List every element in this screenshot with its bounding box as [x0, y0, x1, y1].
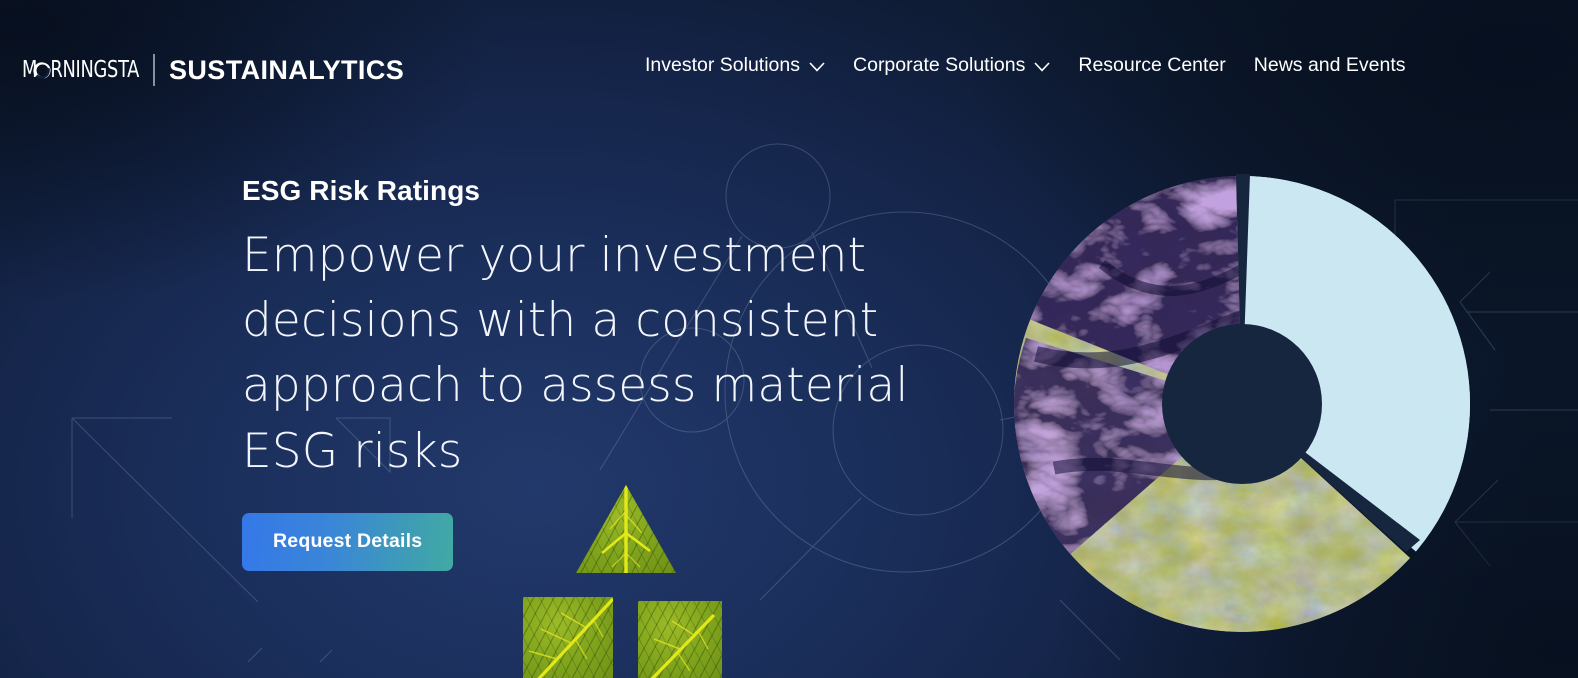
leaf-shapes-graphic: [520, 485, 750, 678]
esg-donut-graphic: [1006, 168, 1478, 640]
main-navigation: Investor Solutions Corporate Solutions R…: [645, 56, 1406, 76]
request-details-button[interactable]: Request Details: [242, 513, 453, 571]
nav-label: Corporate Solutions: [853, 56, 1025, 76]
chevron-down-icon: [1034, 62, 1050, 72]
hero-section: M RNINGSTAR SUSTAINALYTICS Investor Solu…: [0, 0, 1578, 678]
sustainalytics-wordmark: SUSTAINALYTICS: [169, 57, 404, 84]
hero-headline: Empower your investment decisions with a…: [242, 223, 942, 484]
leaf-circle-icon: [638, 601, 722, 678]
svg-text:RNINGSTAR: RNINGSTAR: [50, 57, 140, 83]
donut-center-hole: [1162, 324, 1322, 484]
logo-divider: [153, 54, 155, 86]
nav-label: Resource Center: [1078, 56, 1225, 76]
nav-item-corporate-solutions[interactable]: Corporate Solutions: [839, 56, 1064, 76]
page-title: ESG Risk Ratings: [242, 176, 942, 207]
brand-logo[interactable]: M RNINGSTAR SUSTAINALYTICS: [22, 52, 404, 88]
leaf-square-icon: [523, 597, 613, 678]
nav-item-news-and-events[interactable]: News and Events: [1240, 56, 1406, 76]
nav-item-investor-solutions[interactable]: Investor Solutions: [645, 56, 839, 76]
site-header: M RNINGSTAR SUSTAINALYTICS Investor Solu…: [0, 0, 1578, 120]
nav-item-resource-center[interactable]: Resource Center: [1064, 56, 1239, 76]
leaf-triangle-icon: [576, 485, 676, 573]
nav-label: Investor Solutions: [645, 56, 800, 76]
morningstar-wordmark-icon: M RNINGSTAR: [22, 57, 140, 83]
nav-label: News and Events: [1254, 56, 1406, 76]
chevron-down-icon: [809, 62, 825, 72]
